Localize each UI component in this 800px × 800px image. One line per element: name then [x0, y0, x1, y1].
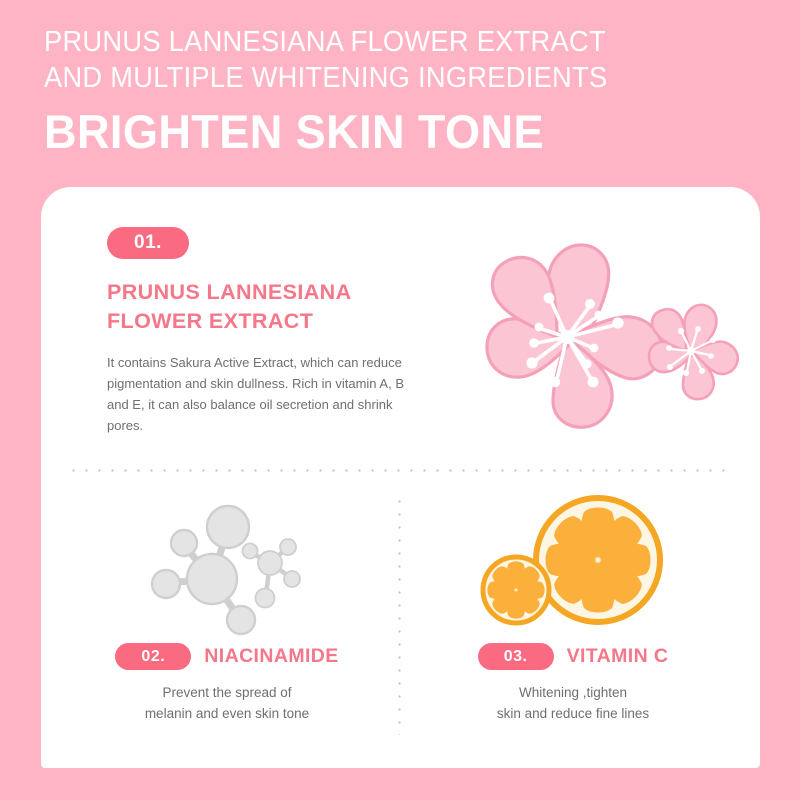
sakura-flower-icon	[439, 219, 739, 449]
section-01-title-line-1: PRUNUS LANNESIANA	[107, 280, 352, 304]
section-03-title: VITAMIN C	[567, 645, 669, 668]
section-03: 03. VITAMIN C Whitening ,tighten skin an…	[403, 487, 743, 724]
horizontal-dotted-divider	[67, 469, 734, 472]
badge-03: 03.	[478, 643, 554, 670]
header-subtitle-line-1: PRUNUS LANNESIANA FLOWER EXTRACT	[44, 24, 713, 60]
section-03-heading: 03. VITAMIN C	[478, 643, 669, 670]
content-card: 01. PRUNUS LANNESIANA FLOWER EXTRACT It …	[41, 187, 760, 768]
section-02-body: Prevent the spread of melanin and even s…	[145, 682, 309, 724]
section-01: 01. PRUNUS LANNESIANA FLOWER EXTRACT It …	[107, 227, 437, 436]
section-02: 02. NIACINAMIDE Prevent the spread of me…	[57, 487, 397, 724]
badge-02: 02.	[115, 643, 191, 670]
section-01-title: PRUNUS LANNESIANA FLOWER EXTRACT	[107, 278, 437, 336]
section-01-title-line-2: FLOWER EXTRACT	[107, 309, 313, 333]
citrus-slice-icon	[473, 487, 673, 637]
section-02-title: NIACINAMIDE	[204, 645, 338, 668]
section-01-body: It contains Sakura Active Extract, which…	[107, 352, 425, 436]
page-title: BRIGHTEN SKIN TONE	[44, 104, 728, 160]
vertical-dotted-divider	[398, 495, 401, 735]
page-header: PRUNUS LANNESIANA FLOWER EXTRACT AND MUL…	[44, 24, 756, 160]
section-02-heading: 02. NIACINAMIDE	[115, 643, 338, 670]
section-03-body: Whitening ,tighten skin and reduce fine …	[497, 682, 649, 724]
molecule-icon	[140, 487, 315, 637]
badge-01: 01.	[107, 227, 189, 259]
header-subtitle-line-2: AND MULTIPLE WHITENING INGREDIENTS	[44, 60, 713, 96]
